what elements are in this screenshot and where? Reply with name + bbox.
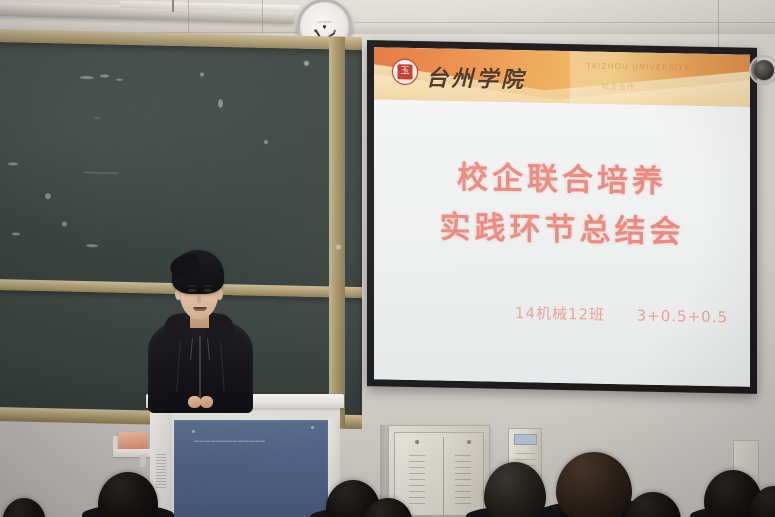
presentation-slide: TAIZHOU UNIVERSITY 校企合作 玉 台州学院 校企联合培养 实践… [374,47,750,387]
slide-subtitle-class: 14机械12班 [515,304,605,324]
slide-title-line-2: 实践环节总结会 [374,201,750,259]
light-fixture-hanger [172,0,174,12]
cabinet-door-seam [443,437,444,515]
presenter-nose [197,295,201,303]
university-name-label: 台州学院 [426,60,526,94]
presenter-hoodie-zipper [199,336,201,398]
chalk-smudge [45,193,51,199]
chalk-smudge [84,172,118,174]
presenter-eyebrow-right [203,285,212,287]
wall-seam [262,0,263,34]
chalk-smudge [86,244,98,247]
cabinet-screw [415,440,419,444]
presenter-eye-right [204,289,212,292]
chalk-smudge [94,117,100,118]
chalk-smudge [62,222,67,227]
chalkboard-right-post [329,36,345,428]
lectern-vent [156,454,166,490]
projection-screen: TAIZHOU UNIVERSITY 校企合作 玉 台州学院 校企联合培养 实践… [367,40,757,394]
slide-header-banner: TAIZHOU UNIVERSITY 校企合作 玉 台州学院 [374,47,750,107]
clock-brand-label: QUARTZ [317,20,331,24]
lectern-indicator-light [311,426,314,429]
slide-title: 校企联合培养 实践环节总结会 [374,151,750,259]
chalk-smudge [8,162,18,165]
control-panel-label-plate [514,434,537,445]
chalkboard-chip [336,245,341,250]
lectern-panel-text: ▬▬▬▬▬▬▬▬▬▬▬▬▬ [194,439,302,444]
chalk-smudge [218,99,223,108]
chalkboard-chip [304,61,309,66]
chalk-smudge [100,74,109,77]
ceiling-speaker-icon [754,60,774,80]
side-shelf [113,449,153,457]
slide-subtitle: 14机械12班 3+0.5+0.5 [515,302,728,327]
wall-seam [188,0,189,36]
wall-seam [355,22,775,23]
slide-title-line-1: 校企联合培养 [374,151,750,209]
university-logo-icon: 玉 [392,59,418,86]
presenter-eye-left [188,289,196,292]
presenter [140,250,260,410]
cabinet-screw [467,440,471,444]
chalk-smudge [200,73,204,77]
presenter-mouth [193,307,207,311]
chalk-smudge [80,76,94,79]
university-logo-glyph: 玉 [398,64,413,79]
classroom-photo: QUARTZ [0,0,775,517]
slide-subtitle-program: 3+0.5+0.5 [637,306,728,326]
clock-center-pin [323,25,326,28]
chalk-smudge [12,232,20,235]
presenter-hand-right [200,396,213,408]
cabinet-door[interactable] [394,432,484,516]
lectern-front-panel: ▬▬▬▬▬▬▬▬▬▬▬▬▬ [174,420,328,517]
chalk-smudge [116,79,123,81]
chalk-smudge [264,140,268,144]
lectern-indicator-light [192,430,195,433]
wall-seam [718,0,719,48]
side-shelf-bracket [140,455,146,467]
